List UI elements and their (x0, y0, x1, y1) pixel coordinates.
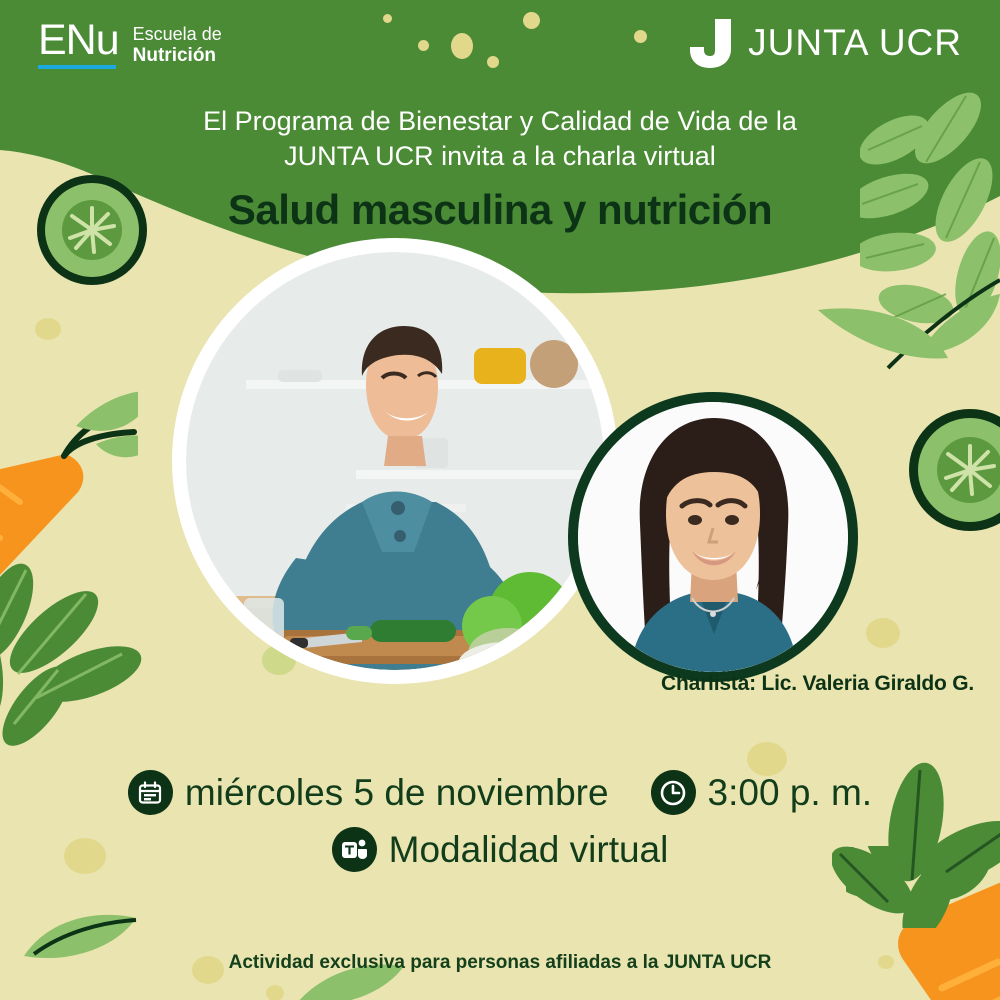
calendar-icon (128, 770, 173, 815)
confetti-dot (634, 30, 647, 43)
detail-date: miércoles 5 de noviembre (128, 770, 609, 815)
main-photo-illustration (186, 252, 604, 670)
main-photo (186, 252, 604, 670)
confetti-dot (487, 56, 499, 68)
enu-mark-text: ENu (38, 18, 119, 62)
speaker-photo (568, 392, 858, 682)
detail-time-label: 3:00 p. m. (708, 772, 873, 814)
detail-date-label: miércoles 5 de noviembre (185, 772, 609, 814)
junta-ucr-logo: JUNTA UCR (689, 17, 962, 69)
poster-canvas: ENu Escuela de Nutrición JUNTA UCR El Pr… (0, 0, 1000, 1000)
confetti-dot (383, 14, 392, 23)
accent-dot (262, 645, 296, 675)
detail-time: 3:00 p. m. (651, 770, 873, 815)
enu-underline-rule (38, 65, 116, 69)
confetti-dot (451, 33, 473, 59)
junta-j-icon (689, 17, 735, 69)
invite-line-2: JUNTA UCR invita a la charla virtual (0, 139, 1000, 174)
detail-modality: Modalidad virtual (332, 827, 669, 872)
accent-dot (866, 618, 900, 648)
confetti-dot (523, 12, 540, 29)
enu-line1: Escuela de (133, 24, 222, 45)
invite-line-1: El Programa de Bienestar y Calidad de Vi… (0, 104, 1000, 139)
speaker-credit: Charlista: Lic. Valeria Giraldo G. (661, 672, 974, 696)
clock-icon (651, 770, 696, 815)
junta-ucr-wordmark: JUNTA UCR (748, 22, 962, 64)
microsoft-teams-icon (332, 827, 377, 872)
enu-mark: ENu (38, 18, 119, 69)
speaker-photo-illustration (578, 402, 848, 672)
enu-logo: ENu Escuela de Nutrición (38, 18, 222, 69)
detail-modality-label: Modalidad virtual (389, 829, 669, 871)
detail-row-modality: Modalidad virtual (0, 827, 1000, 872)
invite-text: El Programa de Bienestar y Calidad de Vi… (0, 104, 1000, 174)
detail-row-date-time: miércoles 5 de noviembre 3:00 p. m. (0, 770, 1000, 815)
enu-line2: Nutrición (133, 45, 222, 67)
page-title: Salud masculina y nutrición (0, 186, 1000, 234)
confetti-dot (418, 40, 429, 51)
main-photo-inner (186, 252, 604, 670)
enu-wordmark: Escuela de Nutrición (133, 18, 222, 67)
accent-dot (35, 318, 61, 340)
event-details: miércoles 5 de noviembre 3:00 p. m. (0, 770, 1000, 872)
footer-note: Actividad exclusiva para personas afilia… (0, 952, 1000, 974)
accent-dot (266, 985, 284, 1000)
speaker-photo-inner (578, 402, 848, 672)
